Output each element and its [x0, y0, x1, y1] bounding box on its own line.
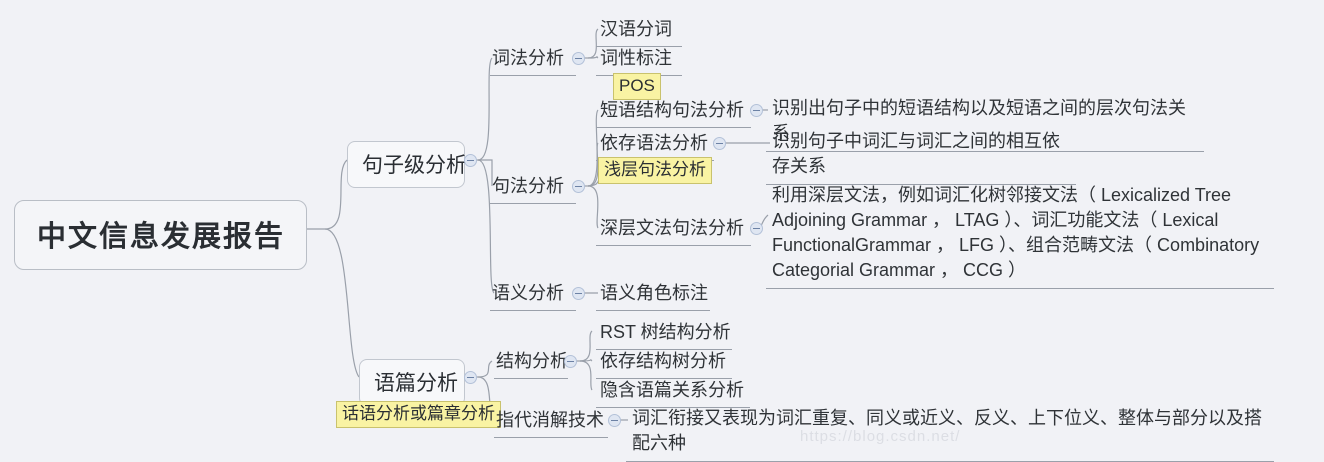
branch-discourse-label: 语篇分析	[374, 372, 458, 395]
watermark: https://blog.csdn.net/	[800, 428, 960, 445]
leaf-deep-grammar-parsing-label: 深层文法句法分析	[600, 218, 744, 238]
leaf-node-semantic-role-labeling[interactable]: 语义角色标注	[596, 276, 710, 311]
collapse-minus-icon-semantic[interactable]	[572, 287, 585, 300]
leaf-node-pos-tagging[interactable]: 词性标注	[596, 41, 682, 76]
branch-sentence-level-label: 句子级分析	[362, 154, 467, 177]
leaf-node-phrase-structure-parsing[interactable]: 短语结构句法分析	[596, 93, 751, 128]
group-node-lexical-analysis[interactable]: 词法分析	[490, 41, 576, 76]
annotation-discourse-alias[interactable]: 话语分析或篇章分析	[336, 401, 501, 428]
group-node-structure-analysis[interactable]: 结构分析	[494, 344, 568, 379]
description-deep-grammar-parsing: 利用深层文法，例如词汇化树邻接文法（ Lexicalized Tree Adjo…	[766, 180, 1274, 289]
root-node[interactable]: 中文信息发展报告	[14, 200, 307, 270]
branch-node-discourse[interactable]: 语篇分析	[359, 359, 465, 406]
collapse-minus-icon-deep-grammar[interactable]	[750, 222, 763, 235]
mindmap-canvas: 中文信息发展报告 句子级分析 语篇分析 话语分析或篇章分析 词法分析 句法分析 …	[0, 0, 1324, 450]
description-dependency-parsing-text: 识别句子中词汇与词汇之间的相互依存关系	[772, 131, 1060, 176]
description-deep-grammar-parsing-text: 利用深层文法，例如词汇化树邻接文法（ Lexicalized Tree Adjo…	[772, 185, 1259, 280]
watermark-text: https://blog.csdn.net/	[800, 428, 960, 445]
group-node-semantic-analysis[interactable]: 语义分析	[490, 276, 576, 311]
group-structure-analysis-label: 结构分析	[496, 351, 568, 371]
collapse-minus-icon-anaphora[interactable]	[608, 414, 621, 427]
collapse-minus-icon-syntax[interactable]	[572, 180, 585, 193]
group-node-syntax-analysis[interactable]: 句法分析	[490, 169, 576, 204]
group-lexical-analysis-label: 词法分析	[492, 48, 564, 68]
group-semantic-analysis-label: 语义分析	[492, 283, 564, 303]
root-node-label: 中文信息发展报告	[37, 221, 285, 253]
group-anaphora-resolution-label: 指代消解技术	[496, 410, 604, 430]
leaf-node-shallow-parsing[interactable]: 浅层句法分析	[598, 157, 712, 184]
leaf-dependency-tree-analysis-label: 依存结构树分析	[600, 351, 726, 371]
leaf-node-deep-grammar-parsing[interactable]: 深层文法句法分析	[596, 211, 751, 246]
leaf-pos-tagging-label: 词性标注	[600, 48, 672, 68]
branch-node-sentence-level[interactable]: 句子级分析	[347, 141, 465, 188]
leaf-chinese-word-segmentation-label: 汉语分词	[600, 19, 672, 39]
leaf-phrase-structure-parsing-label: 短语结构句法分析	[600, 100, 744, 120]
collapse-minus-icon-phrase-structure[interactable]	[750, 104, 763, 117]
leaf-implicit-discourse-relation-label: 隐含语篇关系分析	[600, 380, 744, 400]
leaf-shallow-parsing-label: 浅层句法分析	[604, 160, 706, 179]
collapse-minus-icon-lexical[interactable]	[572, 52, 585, 65]
collapse-minus-icon-dependency[interactable]	[713, 137, 726, 150]
description-dependency-parsing: 识别句子中词汇与词汇之间的相互依存关系	[766, 126, 1076, 185]
collapse-minus-icon-structure[interactable]	[564, 355, 577, 368]
annotation-discourse-alias-label: 话语分析或篇章分析	[342, 404, 495, 423]
leaf-rst-tree-analysis-label: RST 树结构分析	[600, 322, 731, 342]
collapse-minus-icon-sentence-level[interactable]	[464, 154, 477, 167]
collapse-minus-icon-discourse[interactable]	[464, 371, 477, 384]
leaf-node-dependency-parsing[interactable]: 依存语法分析	[596, 126, 714, 161]
leaf-dependency-parsing-label: 依存语法分析	[600, 133, 708, 153]
leaf-semantic-role-labeling-label: 语义角色标注	[600, 283, 708, 303]
group-node-anaphora-resolution[interactable]: 指代消解技术	[494, 403, 608, 438]
group-syntax-analysis-label: 句法分析	[492, 176, 564, 196]
